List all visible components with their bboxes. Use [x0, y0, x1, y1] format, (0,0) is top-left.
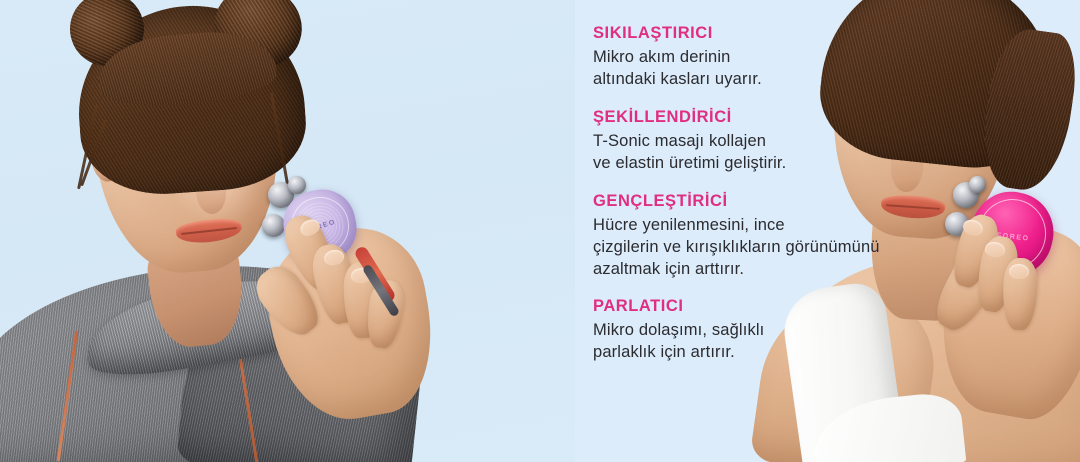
right-content-panel: FOREO SIKILAŞTIRICI Mikro akım derinin a…: [575, 0, 1080, 462]
benefit-rejuvenating-heading: GENÇLEŞTİRİCİ: [593, 192, 888, 211]
microcurrent-ball: [288, 176, 306, 194]
benefit-firming-body: Mikro akım derinin altındaki kasları uya…: [593, 47, 888, 91]
benefit-firming: SIKILAŞTIRICI Mikro akım derinin altında…: [593, 24, 888, 91]
left-image-panel: FOREO: [0, 0, 575, 462]
microcurrent-ball: [969, 176, 986, 193]
benefit-contouring-body: T-Sonic masajı kollajen ve elastin üreti…: [593, 131, 888, 175]
benefit-rejuvenating: GENÇLEŞTİRİCİ Hücre yenilenmesini, ince …: [593, 192, 888, 281]
benefit-firming-heading: SIKILAŞTIRICI: [593, 24, 888, 43]
benefits-list: SIKILAŞTIRICI Mikro akım derinin altında…: [593, 24, 888, 364]
fingernail: [1009, 264, 1030, 280]
benefit-rejuvenating-body: Hücre yenilenmesini, ince çizgilerin ve …: [593, 215, 888, 281]
benefit-brightening-body: Mikro dolaşımı, sağlıklı parlaklık için …: [593, 320, 888, 364]
microcurrent-ball: [262, 214, 285, 237]
promo-banner: FOREO: [0, 0, 1080, 462]
benefit-contouring-heading: ŞEKİLLENDİRİCİ: [593, 108, 888, 127]
benefit-contouring: ŞEKİLLENDİRİCİ T-Sonic masajı kollajen v…: [593, 108, 888, 175]
benefit-brightening: PARLATICI Mikro dolaşımı, sağlıklı parla…: [593, 297, 888, 364]
model-left-photo: FOREO: [0, 0, 575, 462]
benefit-brightening-heading: PARLATICI: [593, 297, 888, 316]
